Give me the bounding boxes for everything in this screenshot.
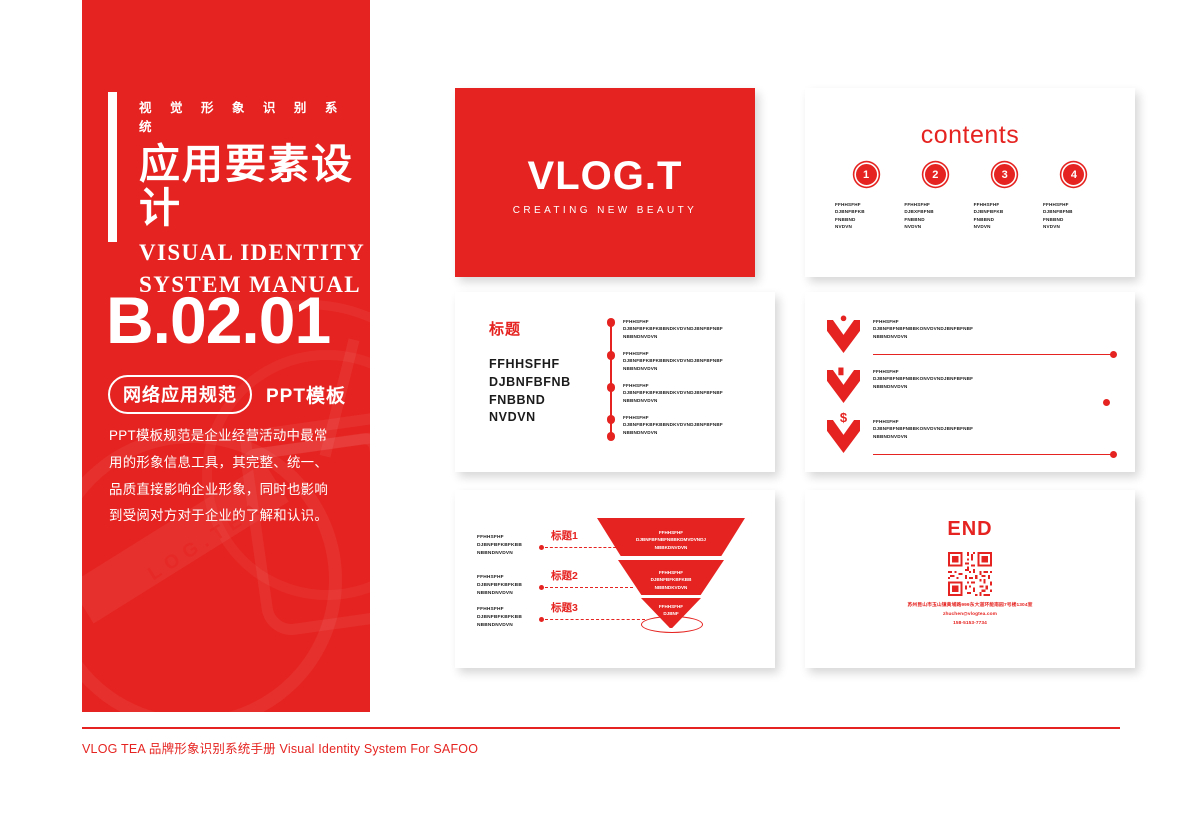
contents-item[interactable]: 4 FFHHSFHF DJBNFBFNB FNBBND NVDVN — [1043, 164, 1105, 231]
template-label: PPT模板 — [266, 381, 346, 408]
cover-description: PPT模板规范是企业经营活动中最常用的形象信息工具，其完整、统一、品质直接影响企… — [109, 423, 341, 530]
funnel-row-title: 标题3 — [551, 600, 578, 615]
contents-item-text: FFHHSFHF DJBNFBFKB FNBBND NVDVN — [974, 201, 1036, 231]
slide-logo[interactable]: VLOG.T CREATING NEW BEAUTY — [455, 88, 755, 277]
contents-item-text: FFHHSFHF DJBXFBFNB FNBBND NVDVN — [904, 201, 966, 231]
icon-list-row[interactable]: ▖ FFHHSFHF DJBNFBFNBFNBBKONVDVNDJBNFBFNB… — [827, 368, 1113, 412]
bar-chart-icon-glyph: ▖ — [827, 361, 860, 374]
slide-icon-list[interactable]: ● FFHHSFHF DJBNFBFNBFNBBKONVDVNDJBNFBFNB… — [805, 292, 1135, 472]
contents-number-badge: 4 — [1063, 164, 1084, 185]
cover-title-en-line1: VISUAL IDENTITY — [139, 237, 370, 270]
timeline-item: FFHHSFHF DJBNFBFKBFKBBNDKVDVNDJBNFBFNBF … — [623, 318, 723, 340]
slide-end[interactable]: END — [805, 490, 1135, 668]
timeline-item: FFHHSFHF DJBNFBFKBFKBBNDKVDVNDJBNFBFNBF … — [623, 350, 723, 372]
contents-number-badge: 3 — [994, 164, 1015, 185]
funnel-segment-text: FFHHSFHF DJBNFBFKBFKBB NBBNDKVDVN — [618, 569, 724, 591]
scope-badge: 网络应用规范 — [108, 375, 252, 414]
icon-row-rule — [873, 454, 1113, 455]
funnel-row-label: FFHHSFHF DJBNFBFKBFKBB NBBNDNVDVN — [477, 574, 522, 597]
funnel-row-label: FFHHSFHF DJBNFBFKBFKBB NBBNDNVDVN — [477, 606, 522, 629]
page-root: LOG.TEA 视 觉 形 象 识 别 系 统 应用要素设计 VISUAL ID… — [0, 0, 1200, 827]
funnel-row-title: 标题2 — [551, 568, 578, 583]
contents-item[interactable]: 2 FFHHSFHF DJBXFBFNB FNBBND NVDVN — [904, 164, 966, 231]
cover-heading: 视 觉 形 象 识 别 系 统 应用要素设计 VISUAL IDENTITY S… — [108, 92, 370, 302]
badge-row: 网络应用规范 PPT模板 — [108, 375, 346, 414]
section-number: B.02.01 — [106, 282, 330, 358]
timeline-item: FFHHSFHF DJBNFBFKBFKBBNDKVDVNDJBNFBFNBF … — [623, 382, 723, 404]
funnel-segment-1: FFHHSFHF DJBNFBFNBFNBBKDMVDVNDJ NBBKDNVD… — [597, 518, 745, 556]
contents-title: contents — [805, 121, 1135, 150]
slide-timeline[interactable]: 标题 FFHHSFHF DJBNFBFNB FNBBND NVDVN FFHHS… — [455, 292, 775, 472]
funnel-base-ellipse — [641, 616, 703, 633]
contents-columns: 1 FFHHSFHF DJBNFBFKB FNBBND NVDVN 2 FFHH… — [835, 164, 1105, 231]
dollar-icon-glyph: $ — [827, 411, 860, 424]
icon-list-row[interactable]: $ FFHHSFHF DJBNFBFNBFNBBKONVDVNDJBNFBFNB… — [827, 418, 1113, 462]
funnel-segment-2: FFHHSFHF DJBNFBFKBFKBB NBBNDKVDVN — [618, 560, 724, 595]
footer-caption: VLOG TEA 品牌形象识别系统手册 Visual Identity Syst… — [82, 738, 478, 757]
contents-number-badge: 2 — [925, 164, 946, 185]
timeline-dot — [607, 383, 616, 392]
contents-item[interactable]: 1 FFHHSFHF DJBNFBFKB FNBBND NVDVN — [835, 164, 897, 231]
end-contact-info: 苏州昆山市玉山镇黄埔路999东大道环能南园7号楼1304室 zhuchen@vl… — [805, 602, 1135, 629]
funnel-row-connector — [545, 619, 645, 620]
brand-tagline: CREATING NEW BEAUTY — [455, 205, 755, 216]
contents-item[interactable]: 3 FFHHSFHF DJBNFBFKB FNBBND NVDVN — [974, 164, 1036, 231]
timeline-dot — [607, 318, 616, 327]
person-icon-glyph: ● — [827, 311, 860, 324]
brand-wordmark: VLOG.T — [455, 156, 755, 196]
icon-list-row[interactable]: ● FFHHSFHF DJBNFBFNBFNBBKONVDVNDJBNFBFNB… — [827, 318, 1113, 362]
contents-item-text: FFHHSFHF DJBNFBFKB FNBBND NVDVN — [835, 201, 897, 231]
bracket-mark — [108, 92, 117, 242]
timeline-subtitle: FFHHSFHF DJBNFBFNB FNBBND NVDVN — [489, 356, 571, 427]
funnel-row-label: FFHHSFHF DJBNFBFKBFKBB NBBNDNVDVN — [477, 534, 522, 557]
contents-number-badge: 1 — [856, 164, 877, 185]
icon-row-endpoint — [1110, 451, 1117, 458]
timeline-dot — [607, 415, 616, 424]
timeline-dot — [607, 351, 616, 360]
funnel-row-connector — [545, 587, 633, 588]
slide-funnel[interactable]: FFHHSFHF DJBNFBFNBFNBBKDMVDVNDJ NBBKDNVD… — [455, 490, 775, 668]
icon-row-endpoint — [1110, 351, 1117, 358]
funnel-row-title: 标题1 — [551, 528, 578, 543]
end-title: END — [805, 518, 1135, 541]
contents-item-text: FFHHSFHF DJBNFBFNB FNBBND NVDVN — [1043, 201, 1105, 231]
timeline-item: FFHHSFHF DJBNFBFKBFKBBNDKVDVNDJBNFBFNBF … — [623, 414, 723, 436]
cover-title-cn: 应用要素设计 — [139, 142, 370, 231]
timeline-title: 标题 — [489, 318, 521, 339]
icon-row-text: FFHHSFHF DJBNFBFNBFNBBKONVDVNDJBNFBFNBF … — [873, 318, 973, 340]
footer-divider — [82, 727, 1120, 729]
cover-kicker: 视 觉 形 象 识 别 系 统 — [139, 97, 370, 135]
icon-row-text: FFHHSFHF DJBNFBFNBFNBBKONVDVNDJBNFBFNBF … — [873, 418, 973, 440]
timeline-dot-end — [607, 432, 616, 441]
funnel-row-dot — [539, 585, 544, 590]
logo-lockup: VLOG.T CREATING NEW BEAUTY — [455, 156, 755, 216]
icon-row-endpoint — [1103, 399, 1110, 406]
icon-row-rule — [873, 354, 1113, 355]
funnel-row-dot — [539, 617, 544, 622]
cover-panel: LOG.TEA 视 觉 形 象 识 别 系 统 应用要素设计 VISUAL ID… — [82, 0, 370, 712]
qr-code-icon — [948, 552, 992, 596]
funnel-row-connector — [545, 547, 621, 548]
funnel-row-dot — [539, 545, 544, 550]
slide-contents[interactable]: contents 1 FFHHSFHF DJBNFBFKB FNBBND NVD… — [805, 88, 1135, 277]
icon-row-text: FFHHSFHF DJBNFBFNBFNBBKONVDVNDJBNFBFNBF … — [873, 368, 973, 390]
